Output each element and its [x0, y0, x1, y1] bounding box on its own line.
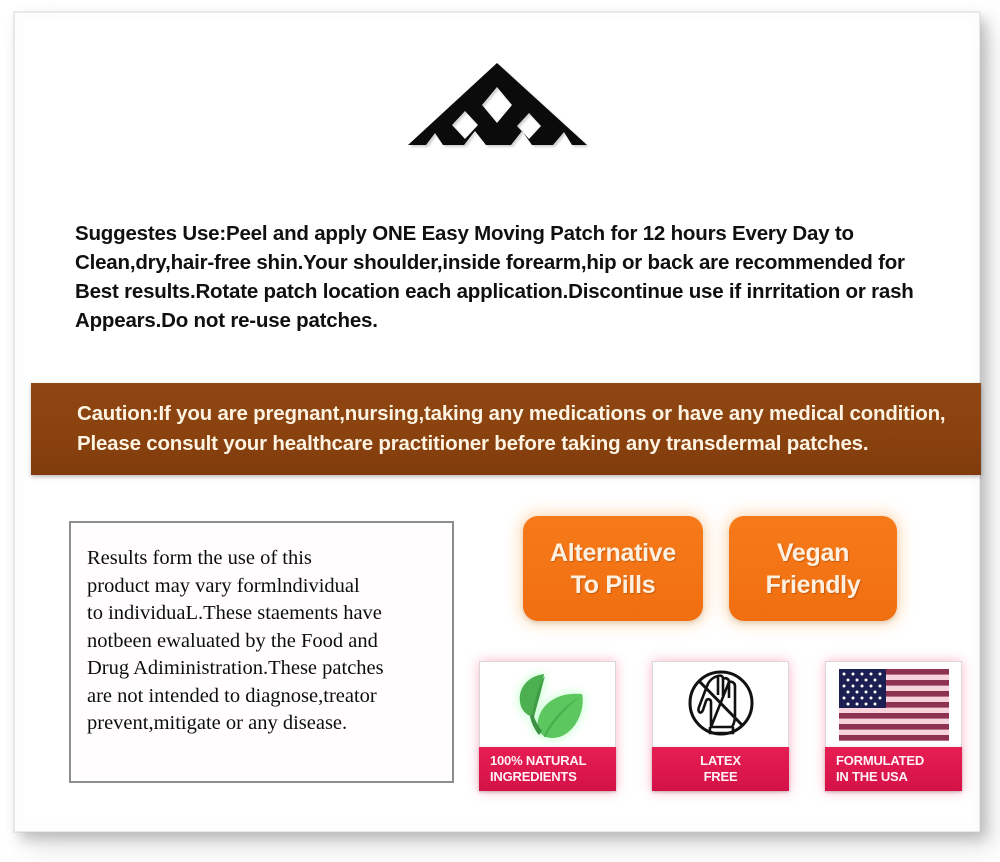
- caution-text: Caution:If you are pregnant,nursing,taki…: [31, 399, 945, 459]
- trust-badge-line1: LATEX: [700, 753, 741, 769]
- caution-line: Caution:If you are pregnant,nursing,taki…: [77, 399, 945, 429]
- disclaimer-line: Results form the use of this: [87, 545, 440, 573]
- disclaimer-line: are not intended to diagnose,treator: [87, 683, 440, 711]
- claim-badge-line2: To Pills: [571, 569, 656, 601]
- disclaimer-text: Results form the use of this product may…: [87, 545, 440, 738]
- product-label-page: Suggestes Use:Peel and apply ONE Easy Mo…: [0, 0, 1000, 862]
- mountain-triangle-logo-icon: [402, 61, 592, 153]
- trust-badge-line1: 100% NATURAL: [490, 753, 586, 769]
- trust-badge-art: [825, 661, 962, 747]
- trust-badge-latex-free: LATEX FREE: [652, 661, 789, 791]
- disclaimer-line: prevent,mitigate or any disease.: [87, 710, 440, 738]
- directions-paragraph: Suggestes Use:Peel and apply ONE Easy Mo…: [75, 219, 975, 335]
- claim-badge-alternative-to-pills: Alternative To Pills: [523, 516, 703, 621]
- disclaimer-line: product may vary formlndividual: [87, 573, 440, 601]
- leaf-icon: [506, 668, 590, 742]
- trust-badge-art: [652, 661, 789, 747]
- brand-logo-container: [23, 61, 971, 153]
- claim-badge-line2: Friendly: [766, 569, 861, 601]
- trust-badge-caption: FORMULATED IN THE USA: [825, 747, 962, 791]
- trust-badge-art: [479, 661, 616, 747]
- product-label-card: Suggestes Use:Peel and apply ONE Easy Mo…: [14, 12, 980, 832]
- trust-badge-line2: FREE: [704, 769, 738, 785]
- trust-badge-natural-ingredients: 100% NATURAL INGREDIENTS: [479, 661, 616, 791]
- disclaimer-line: to individuaL.These staements have: [87, 600, 440, 628]
- trust-badge-line1: FORMULATED: [836, 753, 924, 769]
- trust-badge-formulated-in-usa: FORMULATED IN THE USA: [825, 661, 962, 791]
- disclaimer-line: notbeen ewaluated by the Food and: [87, 628, 440, 656]
- trust-badges-row: 100% NATURAL INGREDIENTS LA: [479, 661, 962, 791]
- trust-badge-line2: INGREDIENTS: [490, 769, 577, 785]
- trust-badge-caption: LATEX FREE: [652, 747, 789, 791]
- directions-line: Suggestes Use:Peel and apply ONE Easy Mo…: [75, 219, 975, 248]
- directions-line: Appears.Do not re-use patches.: [75, 306, 975, 335]
- label-card-inner: Suggestes Use:Peel and apply ONE Easy Mo…: [23, 21, 971, 823]
- disclaimer-line: Drug Adiministration.These patches: [87, 655, 440, 683]
- directions-line: Best results.Rotate patch location each …: [75, 277, 975, 306]
- no-latex-glove-icon: [680, 665, 762, 745]
- claim-badge-line1: Vegan: [777, 537, 849, 569]
- trust-badge-caption: 100% NATURAL INGREDIENTS: [479, 747, 616, 791]
- directions-line: Clean,dry,hair-free shin.Your shoulder,i…: [75, 248, 975, 277]
- claim-badge-line1: Alternative: [550, 537, 676, 569]
- caution-line: Please consult your healthcare practitio…: [77, 429, 945, 459]
- disclaimer-box: Results form the use of this product may…: [69, 521, 454, 783]
- claim-badge-vegan-friendly: Vegan Friendly: [729, 516, 897, 621]
- trust-badge-line2: IN THE USA: [836, 769, 908, 785]
- usa-flag-icon: [839, 669, 949, 741]
- claim-badges-row: Alternative To Pills Vegan Friendly: [523, 516, 897, 621]
- caution-band: Caution:If you are pregnant,nursing,taki…: [31, 383, 981, 475]
